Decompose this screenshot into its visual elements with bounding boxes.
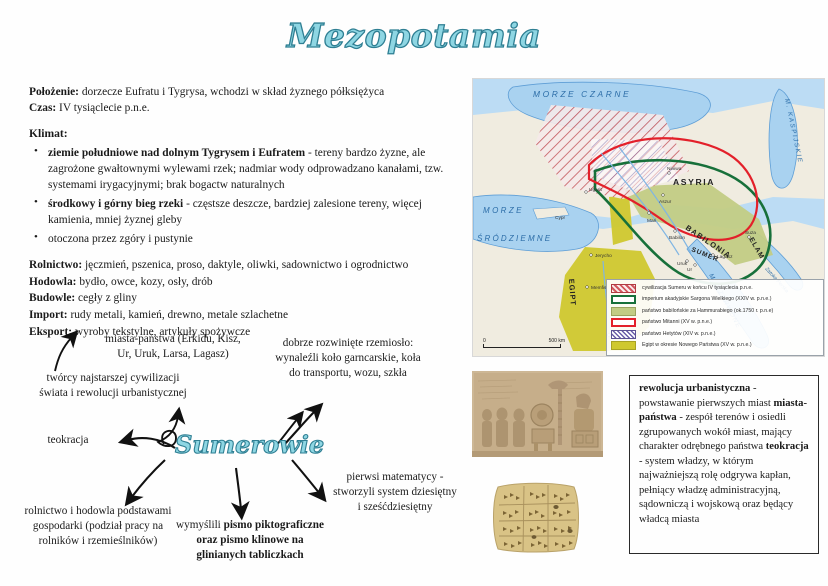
list-item: otoczona przez zgóry i pustynie	[29, 231, 454, 247]
fact-hodowla: Hodowla: bydło, owce, kozy, osły, drób	[29, 274, 454, 291]
node-line: glinianych tabliczkach	[170, 548, 330, 563]
list-item: ziemie południowe nad dolnym Tygrysem i …	[29, 145, 454, 194]
svg-text:Jerycho: Jerycho	[595, 253, 612, 259]
scale-value: 500 km	[549, 338, 565, 344]
arrow-to-miasta	[55, 337, 72, 371]
arrow-to-teokracja	[128, 438, 175, 448]
mindmap-node-pismo: wymyślili pismo piktograficzne oraz pism…	[170, 518, 330, 564]
node-line: teokracja	[33, 433, 103, 448]
mindmap-node-rolnictwo: rolnictwo i hodowla podstawami gospodark…	[8, 504, 188, 550]
fact-polozenie-label: Położenie:	[29, 86, 79, 98]
definition-term: teokracja	[766, 441, 809, 452]
definition-text: - system władzy, w którym najważniejszą …	[639, 456, 793, 525]
definition-term: rewolucja urbanistyczna	[639, 383, 750, 394]
legend-row: państwo Hetytów (XIV w. p.n.e.)	[611, 329, 819, 339]
fact-hodowla-label: Hodowla:	[29, 276, 76, 288]
svg-text:ŚRÓDZIEMNE: ŚRÓDZIEMNE	[477, 234, 552, 243]
node-line: oraz pismo klinowe na	[170, 533, 330, 548]
definition-term-rewolucja: rewolucja urbanistyczna	[639, 383, 750, 394]
mindmap-node-teokracja: teokracja	[33, 433, 103, 448]
legend-label: państwo Hetytów (XIV w. p.n.e.)	[642, 331, 716, 337]
svg-text:Ur: Ur	[687, 267, 692, 273]
notes-column: Położenie: dorzecze Eufratu i Tygrysa, w…	[29, 84, 454, 340]
fact-budowle-label: Budowle:	[29, 292, 75, 304]
node-line: wynaleźli koło garncarskie, koła	[248, 351, 448, 366]
map-legend: cywilizacja Sumeru w końcu IV tysiącleci…	[606, 279, 824, 356]
svg-text:Ugarit: Ugarit	[589, 187, 602, 193]
mindmap: miasta-państwa (Erkidu, Kisz, Ur, Uruk, …	[0, 318, 470, 586]
fact-polozenie: Położenie: dorzecze Eufratu i Tygrysa, w…	[29, 84, 454, 100]
fact-polozenie-value: dorzecze Eufratu i Tygrysa, wchodzi w sk…	[79, 86, 384, 98]
notebook-page: Mezopotamia Położenie: dorzecze Eufratu …	[0, 0, 828, 586]
arrow-to-pismo	[236, 468, 241, 510]
scale-rule	[483, 344, 561, 348]
svg-text:EGIPT: EGIPT	[567, 279, 578, 307]
legend-label: imperium akadyjskie Sargona Wielkiego (X…	[642, 296, 771, 302]
node-line: stworzyli system dziesiętny	[320, 485, 470, 500]
fact-budowle-value: cegły z gliny	[75, 292, 137, 304]
scale-zero: 0	[483, 338, 486, 344]
svg-text:Mari: Mari	[647, 218, 656, 224]
arrow-to-rolnictwo	[131, 460, 165, 498]
fact-budowle: Budowle: cegły z gliny	[29, 290, 454, 307]
node-line: twórcy najstarszej cywilizacji	[13, 371, 213, 386]
section-heading-klimat: Klimat:	[29, 126, 454, 143]
legend-row: imperium akadyjskie Sargona Wielkiego (X…	[611, 295, 819, 305]
svg-text:Niniwa: Niniwa	[667, 166, 682, 172]
page-title: Mezopotamia	[0, 16, 828, 55]
fact-czas-value: IV tysiąclecie p.n.e.	[56, 102, 149, 114]
node-line: rolnictwo i hodowla podstawami	[8, 504, 188, 519]
arrow-to-matematycy	[292, 460, 320, 494]
photo-sumerian-relief	[472, 371, 603, 457]
fact-rolnictwo-value: jęczmień, pszenica, proso, daktyle, oliw…	[82, 259, 408, 271]
legend-row: państwo babilońskie za Hammurabiego (ok.…	[611, 306, 819, 316]
definition-term-teokracja: teokracja	[766, 441, 809, 452]
list-item: środkowy i górny bieg rzeki - częstsze d…	[29, 196, 454, 229]
node-line: i sześćdziesiętny	[320, 500, 470, 515]
svg-text:Uruk: Uruk	[677, 261, 688, 267]
legend-row: Egipt w okresie Nowego Państwa (XV w. p.…	[611, 341, 819, 351]
bullet-text: otoczona przez zgóry i pustynie	[48, 233, 193, 245]
legend-swatch-outline-green	[611, 295, 636, 304]
node-line: Ur, Uruk, Larsa, Lagasz)	[78, 347, 268, 362]
fact-rolnictwo: Rolnictwo: jęczmień, pszenica, proso, da…	[29, 257, 454, 274]
svg-text:MORZE: MORZE	[483, 206, 524, 215]
svg-text:Lagasz: Lagasz	[717, 254, 733, 260]
legend-swatch-fill-olive	[611, 307, 636, 316]
node-line: świata i rewolucji urbanistycznej	[13, 386, 213, 401]
fact-czas: Czas: IV tysiąclecie p.n.e.	[29, 100, 454, 116]
legend-label: państwo babilońskie za Hammurabiego (ok.…	[642, 308, 773, 314]
bullet-bold: ziemie południowe nad dolnym Tygrysem i …	[48, 147, 305, 159]
svg-text:Cypr: Cypr	[555, 215, 566, 221]
svg-text:Aszur: Aszur	[659, 199, 672, 205]
legend-swatch-hatch-red	[611, 284, 636, 293]
node-line: do transportu, wozu, szkła	[248, 366, 448, 381]
legend-label: państwo Mitanni (XV w. p.n.e.)	[642, 319, 712, 325]
mindmap-node-miasta-panstwa: miasta-państwa (Erkidu, Kisz, Ur, Uruk, …	[78, 332, 268, 362]
relief-graphic	[472, 371, 603, 457]
definitions-box: rewolucja urbanistyczna - powstawanie pi…	[629, 375, 819, 554]
mindmap-node-rzemioslo: dobrze rozwinięte rzemiosło: wynaleźli k…	[248, 336, 448, 382]
svg-text:Suza: Suza	[745, 230, 756, 236]
node-line: pierwsi matematycy -	[320, 470, 470, 485]
svg-text:Memfis: Memfis	[591, 285, 607, 291]
mindmap-node-matematycy: pierwsi matematycy - stworzyli system dz…	[320, 470, 470, 516]
node-line: wymyślili pismo piktograficzne	[170, 518, 330, 533]
node-text-bold: glinianych tabliczkach	[196, 549, 303, 561]
mindmap-center-label: Sumerowie	[175, 430, 324, 459]
node-line: gospodarki (podział pracy na	[8, 519, 188, 534]
legend-row: cywilizacja Sumeru w końcu IV tysiącleci…	[611, 283, 819, 293]
mindmap-node-tworcy: twórcy najstarszej cywilizacji świata i …	[13, 371, 213, 401]
node-line: dobrze rozwinięte rzemiosło:	[248, 336, 448, 351]
legend-label: cywilizacja Sumeru w końcu IV tysiącleci…	[642, 285, 753, 291]
photo-clay-tablet	[490, 481, 582, 554]
node-line: miasta-państwa (Erkidu, Kisz,	[78, 332, 268, 347]
bullet-bold: środkowy i górny bieg rzeki	[48, 198, 183, 210]
node-text-bold: oraz pismo klinowe na	[196, 534, 303, 546]
legend-swatch-hatch-violet	[611, 330, 636, 339]
node-text-bold: pismo piktograficzne	[224, 519, 324, 531]
legend-swatch-fill-yellow	[611, 341, 636, 350]
svg-text:ASYRIA: ASYRIA	[673, 177, 715, 187]
fact-rolnictwo-label: Rolnictwo:	[29, 259, 82, 271]
tablet-graphic	[490, 481, 582, 554]
svg-text:Babilon: Babilon	[669, 235, 685, 241]
fact-hodowla-value: bydło, owce, kozy, osły, drób	[76, 276, 212, 288]
legend-swatch-outline-red	[611, 318, 636, 327]
map-scale-bar: 0 500 km	[483, 338, 565, 348]
historical-map: MORZE CZARNE M. KASPIJSKIE MORZE ŚRÓDZIE…	[472, 78, 825, 357]
legend-row: państwo Mitanni (XV w. p.n.e.)	[611, 318, 819, 328]
legend-label: Egipt w okresie Nowego Państwa (XV w. p.…	[642, 342, 752, 348]
svg-text:MORZE CZARNE: MORZE CZARNE	[533, 89, 631, 99]
fact-czas-label: Czas:	[29, 102, 56, 114]
node-text-plain: wymyślili	[176, 519, 224, 531]
klimat-bullet-list: ziemie południowe nad dolnym Tygrysem i …	[29, 145, 454, 248]
node-line: rolników i rzemieślników)	[8, 534, 188, 549]
